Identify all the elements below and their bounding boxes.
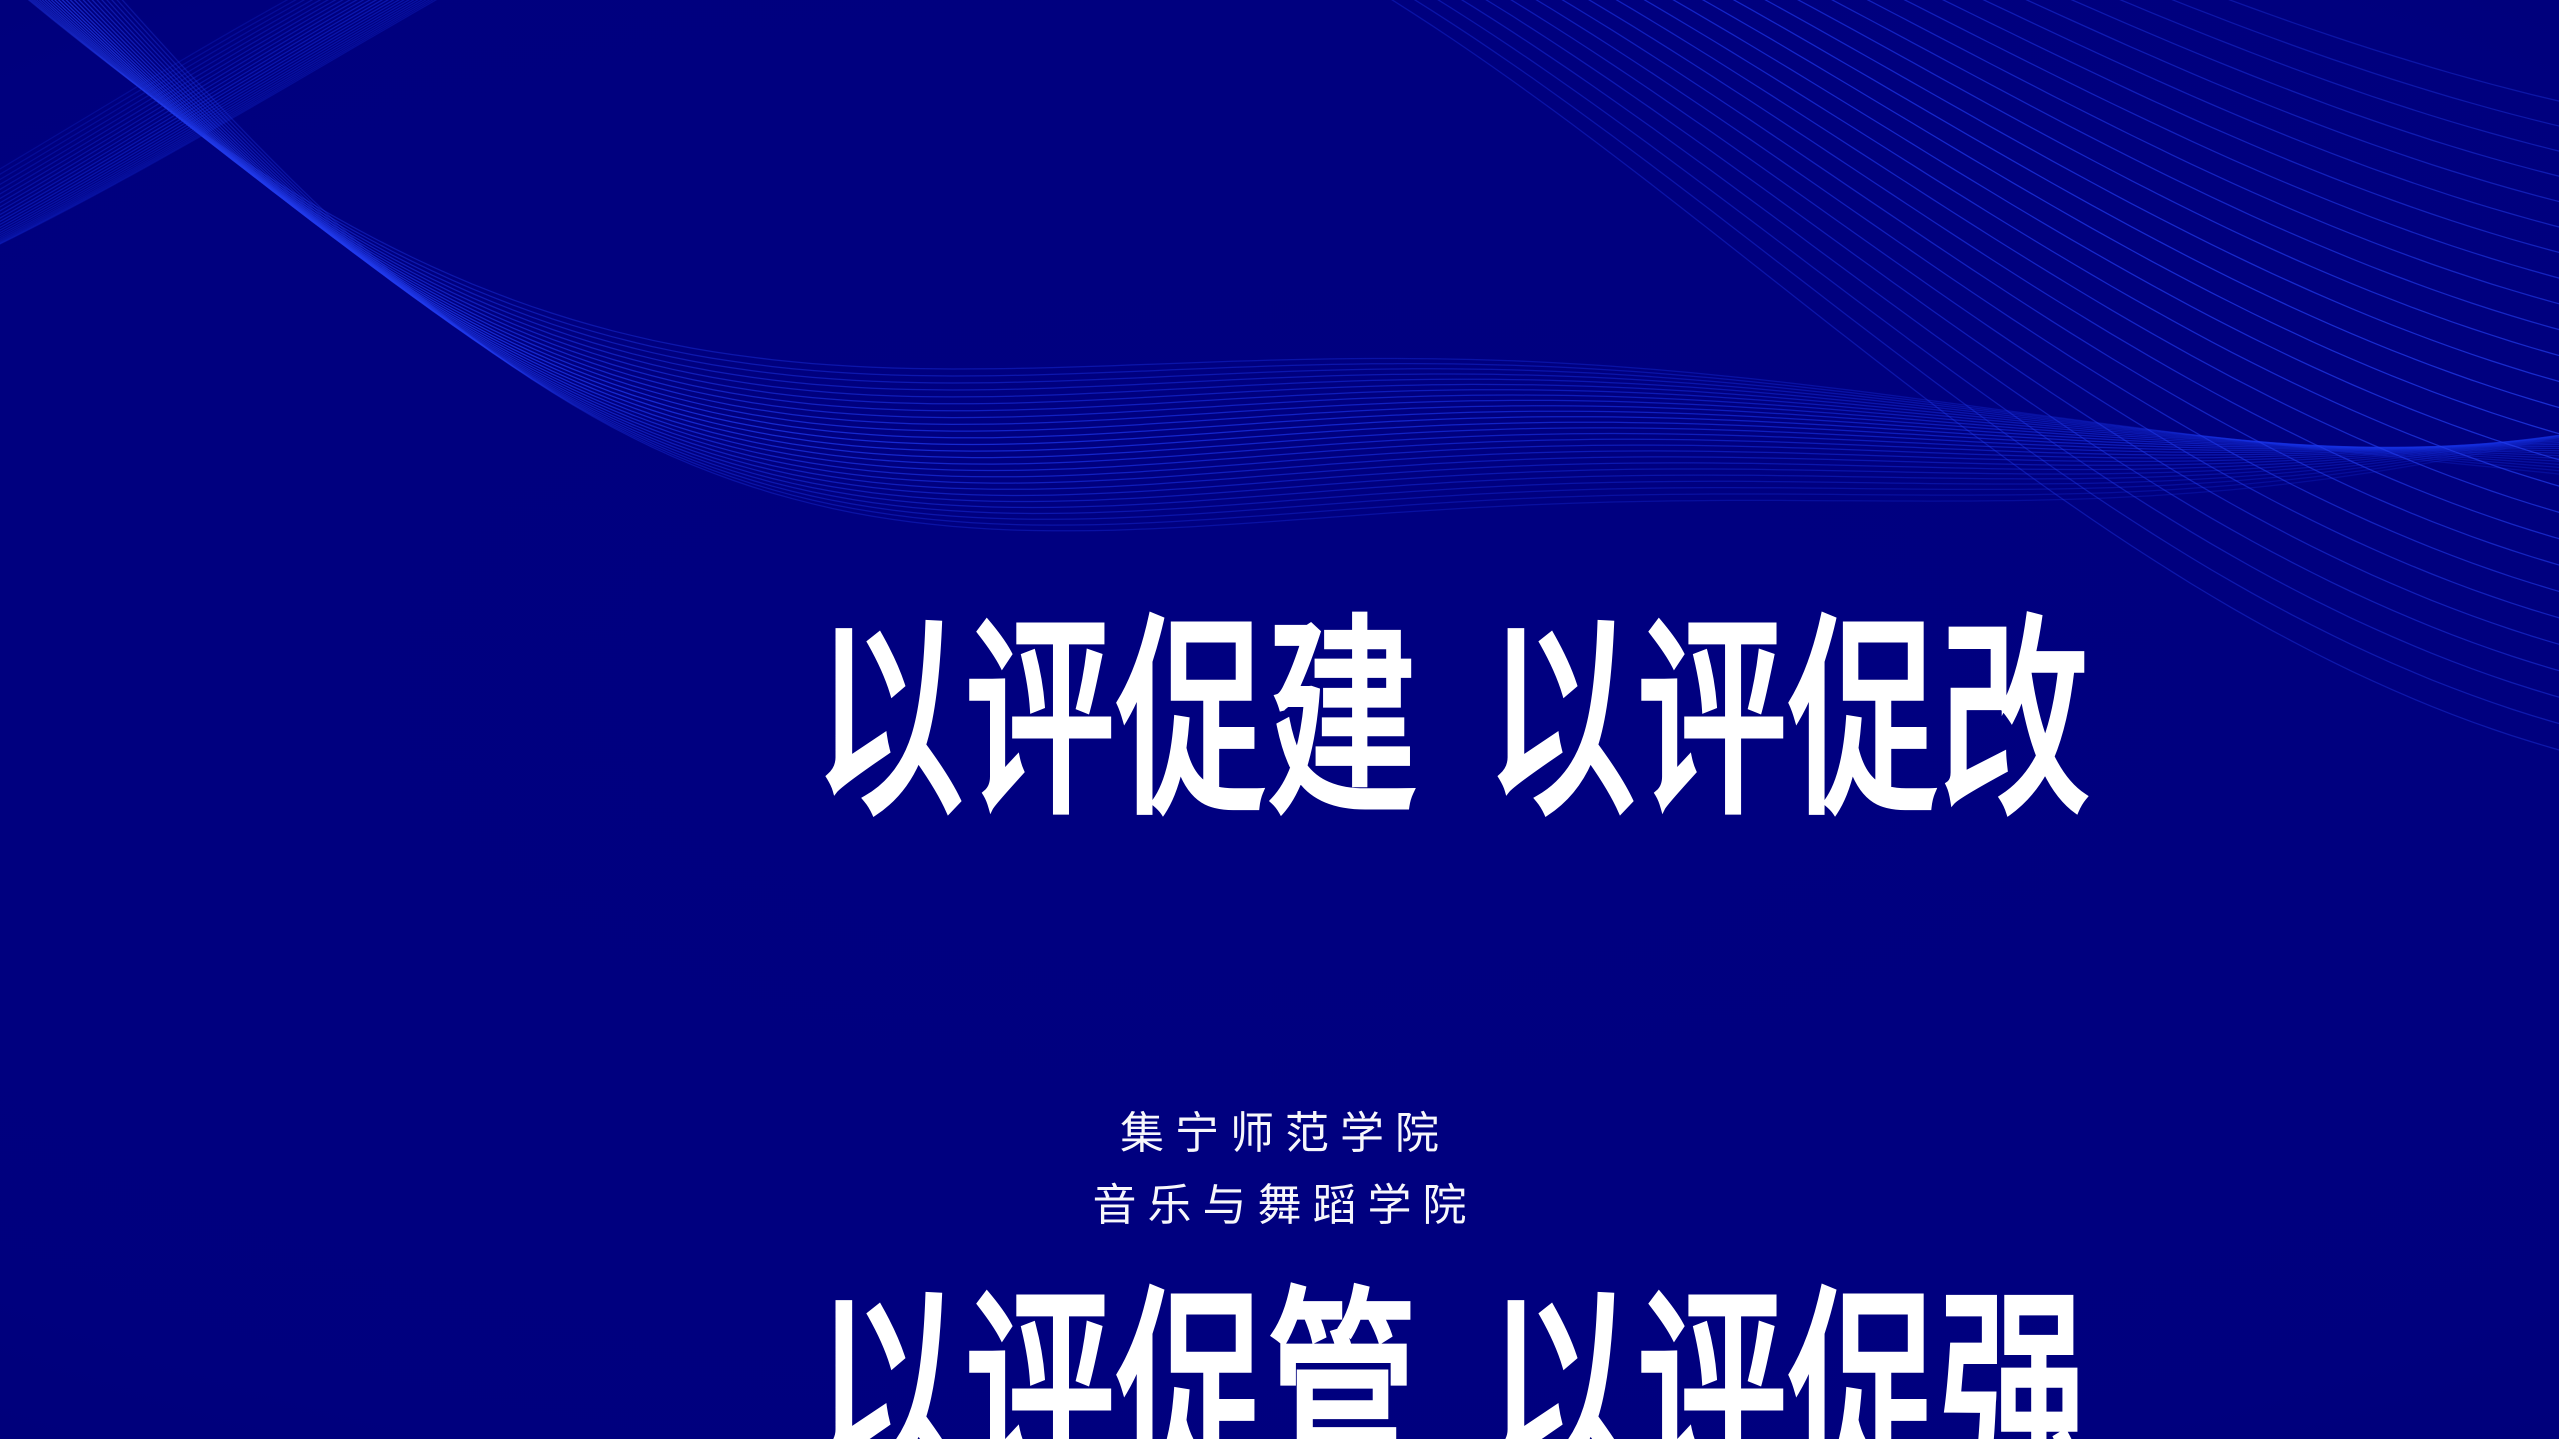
headline-line-1-left: 以评促建: [814, 601, 1419, 840]
headline-line-2-right: 以评促强: [1486, 1273, 2091, 1439]
headline-line-1-right: 以评促改: [1486, 601, 2091, 840]
slide-content: 以评促建以评促改 以评促管以评促强 集宁师范学院 音乐与舞蹈学院: [0, 0, 2559, 1439]
subtitle-line-department: 音乐与舞蹈学院: [0, 1170, 2559, 1242]
subtitle-line-institution: 集宁师范学院: [0, 1098, 2559, 1170]
subtitle-block: 集宁师范学院 音乐与舞蹈学院: [0, 1098, 2559, 1242]
slide-canvas: 以评促建以评促改 以评促管以评促强 集宁师范学院 音乐与舞蹈学院: [0, 0, 2559, 1439]
headline-block: 以评促建以评促改 以评促管以评促强: [0, 318, 2559, 1439]
headline-line-2-left: 以评促管: [814, 1273, 1419, 1439]
